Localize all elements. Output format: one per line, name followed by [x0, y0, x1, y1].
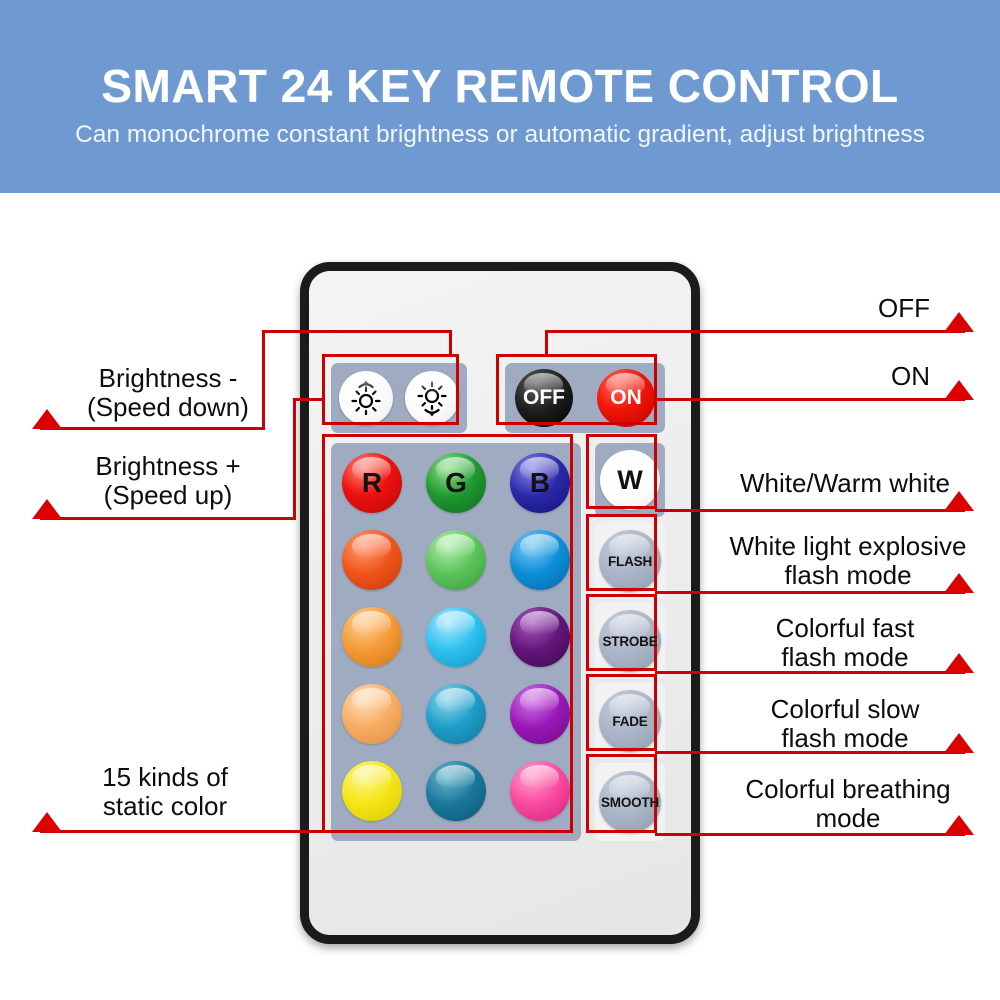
off-label: OFF [700, 294, 930, 323]
callout-line-smooth-h [655, 833, 965, 836]
strobe-mode-panel: STROBE [595, 603, 665, 679]
strobe-button[interactable]: STROBE [599, 610, 661, 672]
color-button-green[interactable]: G [426, 453, 486, 513]
smooth-mode-panel: SMOOTH [595, 763, 665, 841]
callout-line-brightness-down-h-bottom [40, 427, 265, 430]
brightness-up-label: Brightness + (Speed up) [48, 452, 288, 510]
color-button-blue-medium[interactable] [510, 530, 570, 590]
color-button-label: B [530, 467, 550, 499]
off-button-label: OFF [523, 386, 565, 410]
brightness-up-button[interactable] [339, 371, 393, 425]
callout-line-on-h [654, 398, 965, 401]
white-button-label: W [617, 465, 642, 496]
white-mode-panel: W [595, 443, 665, 517]
color-button-dark-teal[interactable] [426, 761, 486, 821]
fade-label: Colorful slow flash mode [700, 695, 990, 753]
color-button-light-orange[interactable] [342, 684, 402, 744]
strobe-label: Colorful fast flash mode [700, 614, 990, 672]
callout-line-brightness-down-h-top [262, 330, 452, 333]
sun-arrow-up-icon [346, 378, 386, 418]
strobe-button-label: STROBE [602, 634, 657, 649]
smooth-button[interactable]: SMOOTH [599, 771, 661, 833]
brightness-down-button[interactable] [405, 371, 459, 425]
color-button-dark-purple[interactable] [510, 607, 570, 667]
static-color-label: 15 kinds of static color [40, 763, 290, 821]
color-button-cyan[interactable] [426, 607, 486, 667]
callout-line-brightness-up-v [293, 398, 296, 520]
brightness-panel [331, 363, 467, 433]
fade-button[interactable]: FADE [599, 690, 661, 752]
callout-line-flash-h [655, 591, 965, 594]
flash-mode-panel: FLASH [595, 523, 665, 599]
off-button[interactable]: OFF [515, 369, 573, 427]
color-button-orange[interactable] [342, 607, 402, 667]
callout-arrow-on [944, 380, 974, 400]
callout-line-off-h [545, 330, 965, 333]
on-label: ON [700, 362, 930, 391]
color-button-blue[interactable]: B [510, 453, 570, 513]
color-button-label: R [362, 467, 382, 499]
flash-label: White light explosive flash mode [698, 532, 998, 590]
white-button[interactable]: W [600, 450, 660, 510]
remote-faceplate: OFF ON R G B [309, 271, 691, 935]
fade-mode-panel: FADE [595, 683, 665, 759]
power-panel: OFF ON [505, 363, 665, 433]
callout-line-off-v [545, 330, 548, 356]
callout-line-static-color [40, 830, 330, 833]
page-title: SMART 24 KEY REMOTE CONTROL [101, 62, 898, 110]
on-button-label: ON [610, 386, 642, 410]
color-button-light-green[interactable] [426, 530, 486, 590]
color-button-yellow[interactable] [342, 761, 402, 821]
color-button-label: G [445, 467, 467, 499]
color-button-teal-blue[interactable] [426, 684, 486, 744]
color-grid-panel: R G B [331, 443, 581, 841]
callout-line-brightness-down-v [449, 330, 452, 356]
color-button-pink[interactable] [510, 761, 570, 821]
fade-button-label: FADE [612, 714, 647, 729]
color-button-orange-red[interactable] [342, 530, 402, 590]
flash-button[interactable]: FLASH [599, 530, 661, 592]
header-banner: SMART 24 KEY REMOTE CONTROL Can monochro… [0, 0, 1000, 193]
callout-line-brightness-up-h-mid [293, 398, 325, 401]
sun-arrow-down-icon [412, 378, 452, 418]
on-button[interactable]: ON [597, 369, 655, 427]
remote-control-device: OFF ON R G B [300, 262, 700, 944]
callout-line-white-h [655, 509, 965, 512]
color-button-purple[interactable] [510, 684, 570, 744]
callout-line-brightness-up-h-bottom [40, 517, 296, 520]
white-label: White/Warm white [700, 469, 990, 498]
smooth-button-label: SMOOTH [601, 795, 659, 810]
smooth-label: Colorful breathing mode [698, 775, 998, 833]
callout-arrow-off [944, 312, 974, 332]
flash-button-label: FLASH [608, 554, 652, 569]
page-subtitle: Can monochrome constant brightness or au… [75, 121, 925, 149]
brightness-down-label: Brightness - (Speed down) [48, 364, 288, 422]
color-button-red[interactable]: R [342, 453, 402, 513]
